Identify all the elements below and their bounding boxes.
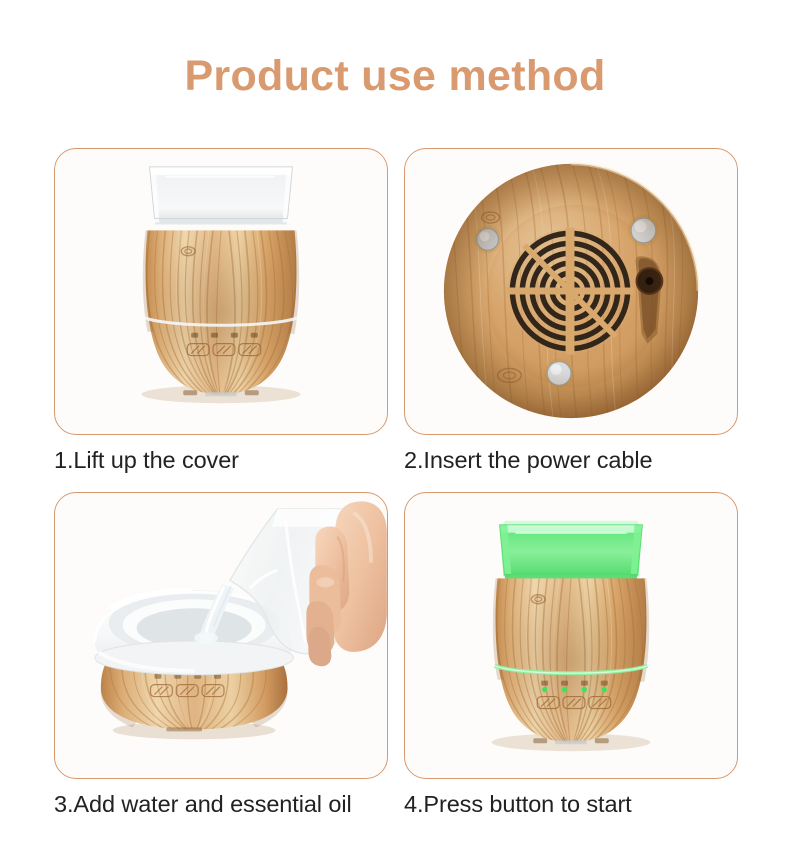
step-3: 3.Add water and essential oil [54,492,388,818]
step-4: 4.Press button to start [404,492,738,818]
steps-grid: 1.Lift up the cover [54,148,738,818]
step-2-card [404,148,738,435]
step-1: 1.Lift up the cover [54,148,388,474]
step-1-caption: 1.Lift up the cover [54,447,388,474]
page-title: Product use method [0,52,790,101]
step-2-caption: 2.Insert the power cable [404,447,738,474]
green-light-cover [500,521,643,581]
step-2: 2.Insert the power cable [404,148,738,474]
step-1-card [54,148,388,435]
step-3-caption: 3.Add water and essential oil [54,791,388,818]
step-4-card [404,492,738,779]
diffuser-green-light-on-image [405,493,737,778]
diffuser-with-cover-lifted-image [55,149,387,434]
diffuser-base-power-port-image [405,149,737,434]
step-3-card [54,492,388,779]
step-4-caption: 4.Press button to start [404,791,738,818]
product-instructions-page: Product use method [0,0,790,847]
clear-cover [150,167,293,225]
pouring-water-into-tank-image [55,493,387,778]
